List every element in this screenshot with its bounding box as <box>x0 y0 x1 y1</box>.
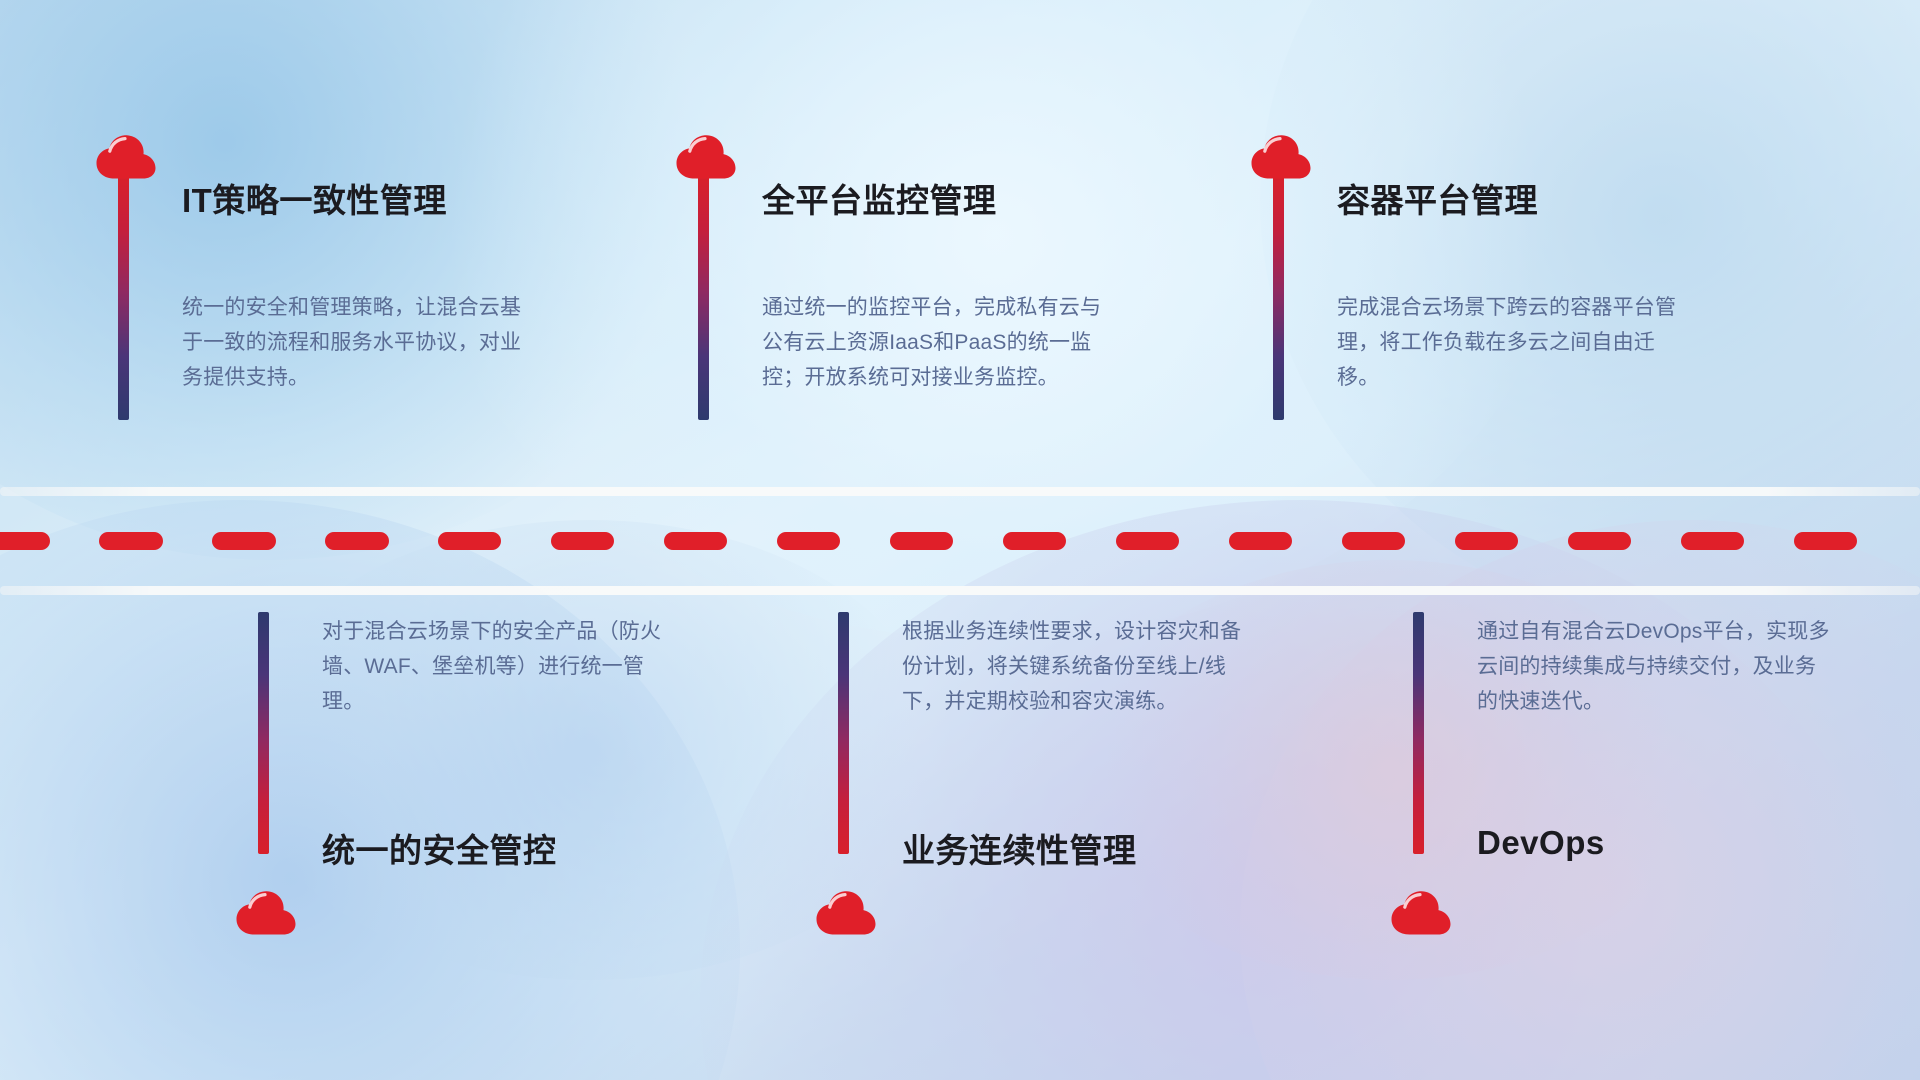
road-dash <box>1003 532 1066 550</box>
road-dash <box>1568 532 1631 550</box>
road-dash <box>777 532 840 550</box>
cloud-icon <box>234 890 298 936</box>
cloud-icon <box>674 134 738 180</box>
road-dash <box>890 532 953 550</box>
bottom-heading-3: DevOps <box>1477 824 1605 862</box>
cloud-icon <box>1389 890 1453 936</box>
connector-line <box>1273 176 1284 420</box>
top-description-1: 统一的安全和管理策略，让混合云基于一致的流程和服务水平协议，对业务提供支持。 <box>182 290 542 395</box>
road-dash <box>325 532 388 550</box>
road-rail-top <box>0 487 1920 496</box>
connector-line <box>118 176 129 420</box>
background-bloom-bottom-right <box>1240 520 1920 1080</box>
connector-line <box>838 612 849 854</box>
cloud-icon <box>814 890 878 936</box>
road-dash <box>1455 532 1518 550</box>
bottom-description-2: 根据业务连续性要求，设计容灾和备份计划，将关键系统备份至线上/线下，并定期校验和… <box>902 614 1262 719</box>
road-rail-bottom <box>0 586 1920 595</box>
cloud-icon <box>1249 134 1313 180</box>
top-description-2: 通过统一的监控平台，完成私有云与公有云上资源IaaS和PaaS的统一监控；开放系… <box>762 290 1122 395</box>
cloud-icon <box>94 134 158 180</box>
top-heading-3: 容器平台管理 <box>1337 174 1538 222</box>
road-dash <box>664 532 727 550</box>
road-dash-line <box>0 532 1920 550</box>
road-dash <box>1681 532 1744 550</box>
road-dash <box>551 532 614 550</box>
road-dash <box>0 532 50 550</box>
background-bloom-top-left <box>0 0 720 560</box>
bottom-description-1: 对于混合云场景下的安全产品（防火墙、WAF、堡垒机等）进行统一管理。 <box>322 614 682 719</box>
top-description-3: 完成混合云场景下跨云的容器平台管理，将工作负载在多云之间自由迁移。 <box>1337 290 1697 395</box>
road-dash <box>1342 532 1405 550</box>
road-dash <box>438 532 501 550</box>
bottom-heading-2: 业务连续性管理 <box>902 824 1137 872</box>
top-heading-1: IT策略一致性管理 <box>182 174 447 222</box>
road-dash <box>1794 532 1857 550</box>
road-dash <box>1229 532 1292 550</box>
connector-line <box>1413 612 1424 854</box>
road-dash <box>212 532 275 550</box>
connector-line <box>698 176 709 420</box>
bottom-description-3: 通过自有混合云DevOps平台，实现多云间的持续集成与持续交付，及业务的快速迭代… <box>1477 614 1837 719</box>
road-divider <box>0 487 1920 595</box>
bottom-heading-1: 统一的安全管控 <box>322 824 557 872</box>
infographic-canvas: IT策略一致性管理 统一的安全和管理策略，让混合云基于一致的流程和服务水平协议，… <box>0 0 1920 1080</box>
road-dash <box>1116 532 1179 550</box>
top-heading-2: 全平台监控管理 <box>762 174 997 222</box>
connector-line <box>258 612 269 854</box>
road-dash <box>99 532 162 550</box>
